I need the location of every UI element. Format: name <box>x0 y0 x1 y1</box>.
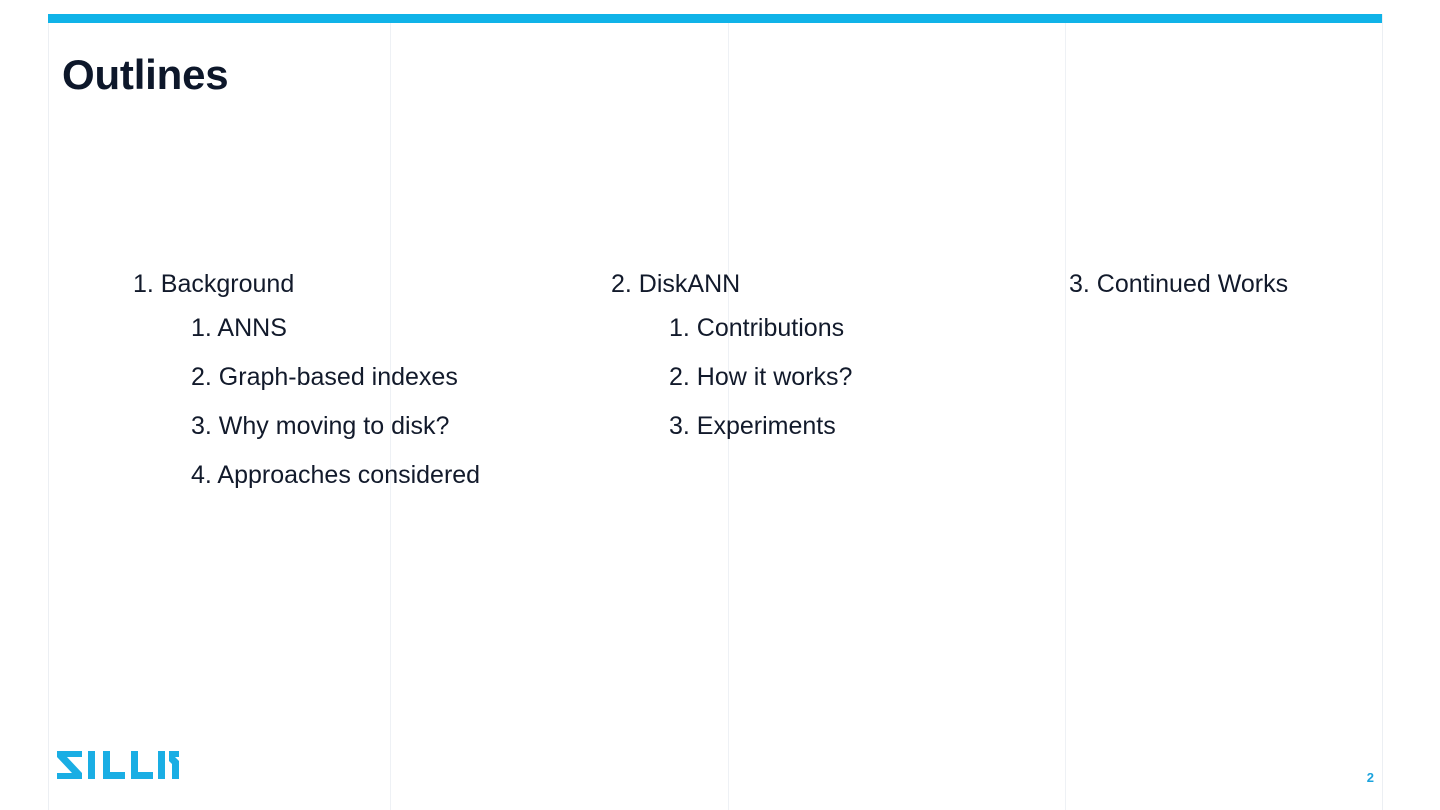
outline-section-background[interactable]: 1. Background <box>133 272 383 297</box>
list-item[interactable]: 3. Experiments <box>669 414 911 439</box>
page-number: 2 <box>1367 771 1374 784</box>
outline-section-continued-works[interactable]: 3. Continued Works <box>1069 272 1369 297</box>
list-item[interactable]: 2. How it works? <box>669 365 911 390</box>
outline-sublist-1: 1. ANNS 2. Graph-based indexes 3. Why mo… <box>133 316 383 488</box>
outline-column-1: 1. Background 1. ANNS 2. Graph-based ind… <box>133 272 383 512</box>
column-divider-3 <box>1065 23 1066 810</box>
list-item[interactable]: 4. Approaches considered <box>191 463 383 488</box>
list-item[interactable]: 1. ANNS <box>191 316 383 341</box>
list-item[interactable]: 3. Why moving to disk? <box>191 414 383 439</box>
list-item[interactable]: 2. Graph-based indexes <box>191 365 383 390</box>
outline-section-diskann[interactable]: 2. DiskANN <box>611 272 911 297</box>
zilliz-logo <box>57 751 179 783</box>
page-title: Outlines <box>62 52 228 98</box>
outline-sublist-2: 1. Contributions 2. How it works? 3. Exp… <box>611 316 911 439</box>
outline-column-3: 3. Continued Works <box>1069 272 1369 316</box>
outline-column-2: 2. DiskANN 1. Contributions 2. How it wo… <box>611 272 911 463</box>
slide-canvas: Outlines 1. Background 1. ANNS 2. Graph-… <box>48 14 1383 810</box>
accent-top-rule <box>48 14 1382 23</box>
list-item[interactable]: 1. Contributions <box>669 316 911 341</box>
